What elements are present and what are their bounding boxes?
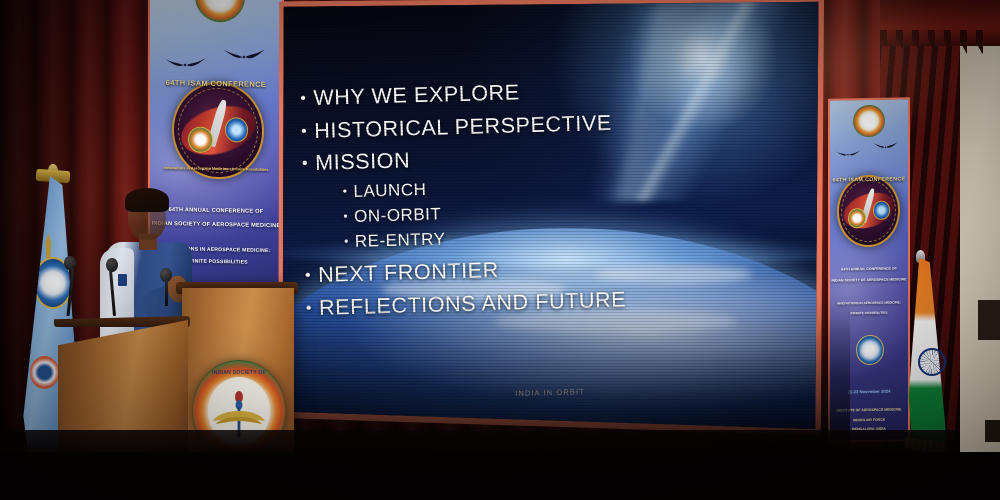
speaker-hair — [125, 188, 169, 212]
screen-surface: •WHY WE EXPLORE •HISTORICAL PERSPECTIVE … — [276, 0, 824, 442]
microphone-stem-3 — [165, 280, 168, 306]
projector-scanlines — [276, 0, 824, 442]
badge-ring-right — [841, 179, 896, 243]
foreground-dark-band — [0, 452, 1000, 500]
wall-picture — [978, 300, 1000, 340]
bird-silhouette-icon-2 — [221, 46, 267, 65]
ashoka-chakra-icon — [918, 348, 946, 376]
bird-silhouette-icon — [163, 54, 207, 73]
banner-right-badge-title: 64TH ISAM CONFERENCE — [830, 176, 908, 183]
emblem-text-top: INDIAN SOCIETY OF — [193, 370, 285, 376]
banner-right: 64TH ISAM CONFERENCE 64TH ANNUAL CONFERE… — [828, 97, 910, 442]
projection-screen: •WHY WE EXPLORE •HISTORICAL PERSPECTIVE … — [276, 0, 824, 442]
iam-crest-icon-right — [853, 105, 884, 138]
wall-picture-lower — [985, 420, 1000, 442]
badge-ring — [178, 87, 258, 174]
banner-right-date: 21-23 November 2024 — [830, 388, 908, 395]
bird-silhouette-icon-3 — [835, 148, 861, 159]
banner-right-foot2: INDIAN AIR FORCE — [830, 417, 908, 423]
speaker-name-badge — [118, 274, 127, 286]
iaf-roundel-icon — [30, 356, 60, 389]
ashoka-emblem-icon — [42, 233, 54, 260]
banner-right-foot1: INSTITUTE OF AEROSPACE MEDICINE — [830, 407, 908, 413]
presentation-scene: आकाश : अपार संभावना 64TH ISAM CONFERENCE… — [0, 0, 1000, 500]
iam-crest-icon — [195, 0, 245, 23]
bird-silhouette-icon-4 — [872, 140, 899, 151]
